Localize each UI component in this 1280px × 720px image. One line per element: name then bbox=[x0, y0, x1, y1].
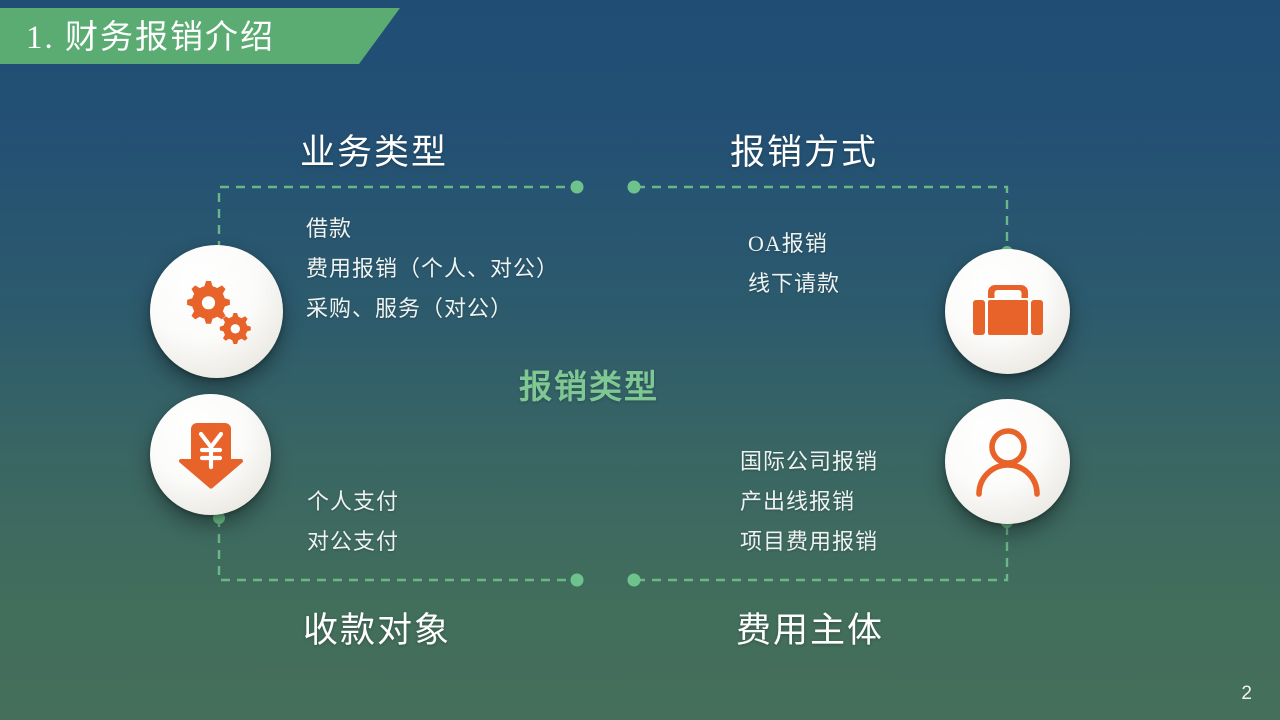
heading-payee: 收款对象 bbox=[303, 602, 451, 653]
list-item: 采购、服务（对公） bbox=[306, 289, 559, 329]
list-item: 线下请款 bbox=[748, 264, 840, 304]
list-method: OA报销 线下请款 bbox=[748, 224, 840, 304]
list-item: 对公支付 bbox=[307, 522, 399, 562]
wire-dot-bottom-right bbox=[628, 574, 641, 587]
list-item: 国际公司报销 bbox=[740, 442, 878, 482]
list-item: 借款 bbox=[306, 209, 559, 249]
list-item: 个人支付 bbox=[307, 482, 399, 522]
wire-dot-bottom-left bbox=[571, 574, 584, 587]
list-item: OA报销 bbox=[748, 224, 840, 264]
heading-expense-subject: 费用主体 bbox=[736, 602, 884, 653]
person-icon bbox=[973, 426, 1043, 498]
icon-circle-method bbox=[945, 249, 1070, 374]
heading-business-type: 业务类型 bbox=[300, 124, 448, 175]
yen-down-arrow-icon bbox=[177, 419, 245, 491]
wire-dot-top-right bbox=[628, 181, 641, 194]
list-item: 项目费用报销 bbox=[740, 522, 878, 562]
center-label: 报销类型 bbox=[519, 360, 659, 408]
gears-icon bbox=[178, 277, 256, 347]
wire-dot-top-left bbox=[571, 181, 584, 194]
list-item: 费用报销（个人、对公） bbox=[306, 249, 559, 289]
list-business-type: 借款 费用报销（个人、对公） 采购、服务（对公） bbox=[306, 209, 559, 329]
page-number: 2 bbox=[1241, 683, 1252, 705]
icon-circle-payee bbox=[150, 394, 271, 515]
icon-circle-business-type bbox=[150, 245, 283, 378]
icon-circle-expense-subject bbox=[945, 399, 1070, 524]
list-expense-subject: 国际公司报销 产出线报销 项目费用报销 bbox=[740, 442, 878, 562]
list-payee: 个人支付 对公支付 bbox=[307, 482, 399, 562]
list-item: 产出线报销 bbox=[740, 482, 878, 522]
heading-method: 报销方式 bbox=[730, 124, 878, 175]
briefcase-icon bbox=[971, 281, 1045, 343]
slide-canvas: 1. 财务报销介绍 业务类型 报销方式 收款对象 费用主体 借款 bbox=[0, 0, 1280, 720]
page-title: 1. 财务报销介绍 bbox=[26, 10, 275, 58]
